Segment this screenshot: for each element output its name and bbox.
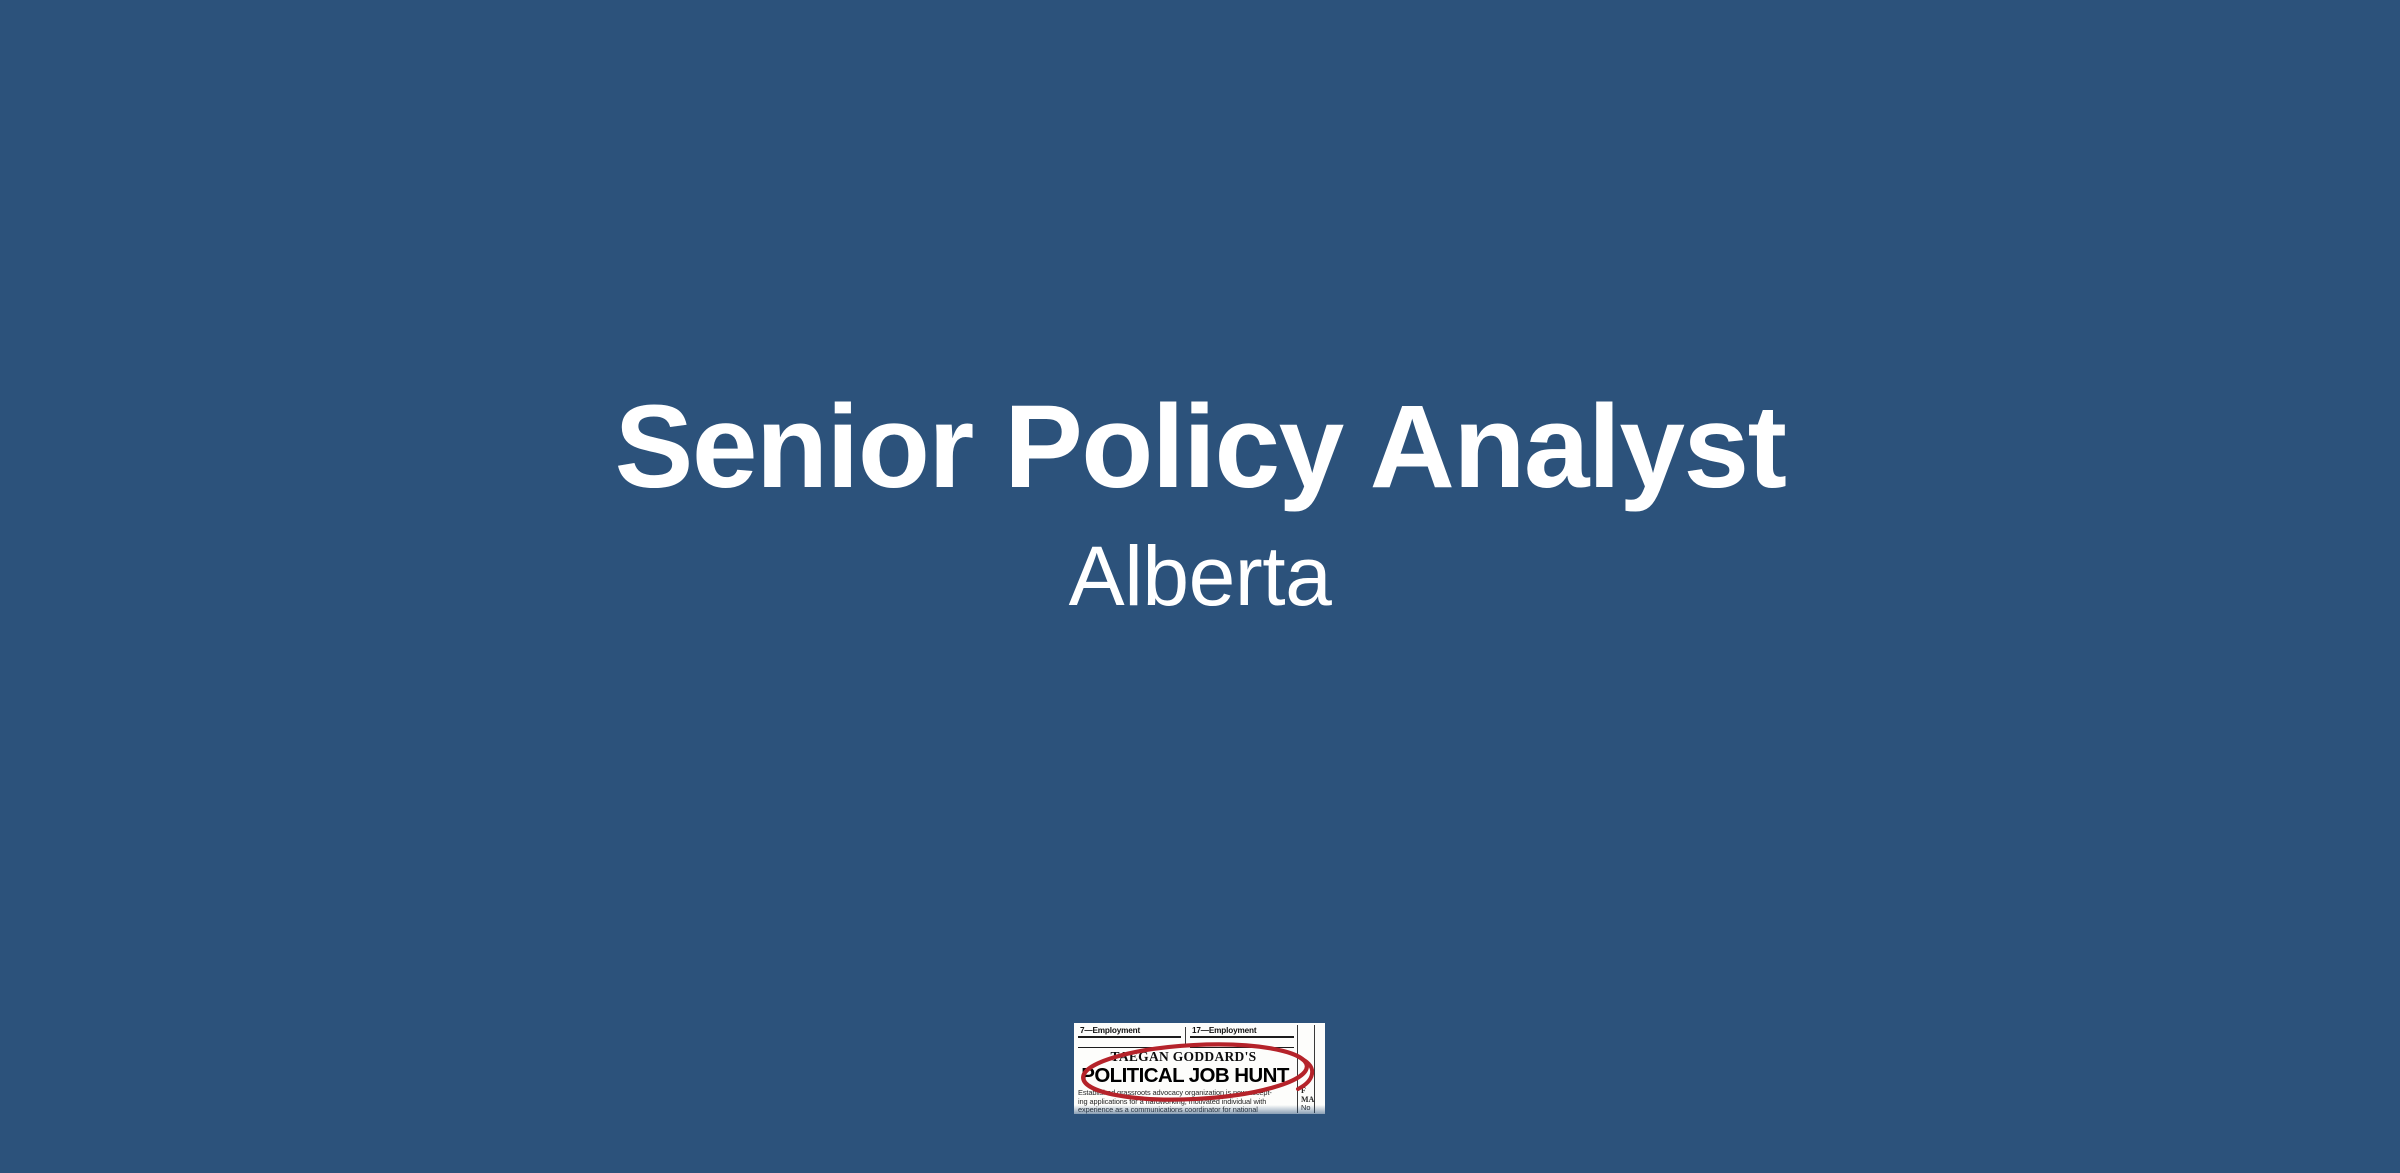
slide-canvas: Senior Policy Analyst Alberta 7—Employme… xyxy=(0,0,2400,1173)
page-title: Senior Policy Analyst xyxy=(615,388,1786,506)
scan-edge-fade xyxy=(1074,1105,1325,1114)
headline-block: Senior Policy Analyst Alberta xyxy=(0,0,2400,1173)
newspaper-clipping: 7—Employment 17—Employment TAEGAN GODDAR… xyxy=(1074,1023,1325,1114)
logo[interactable]: 7—Employment 17—Employment TAEGAN GODDAR… xyxy=(1074,1023,1325,1114)
job-location-subtitle: Alberta xyxy=(1069,534,1332,618)
red-circle-annotation-icon xyxy=(1074,1023,1325,1114)
